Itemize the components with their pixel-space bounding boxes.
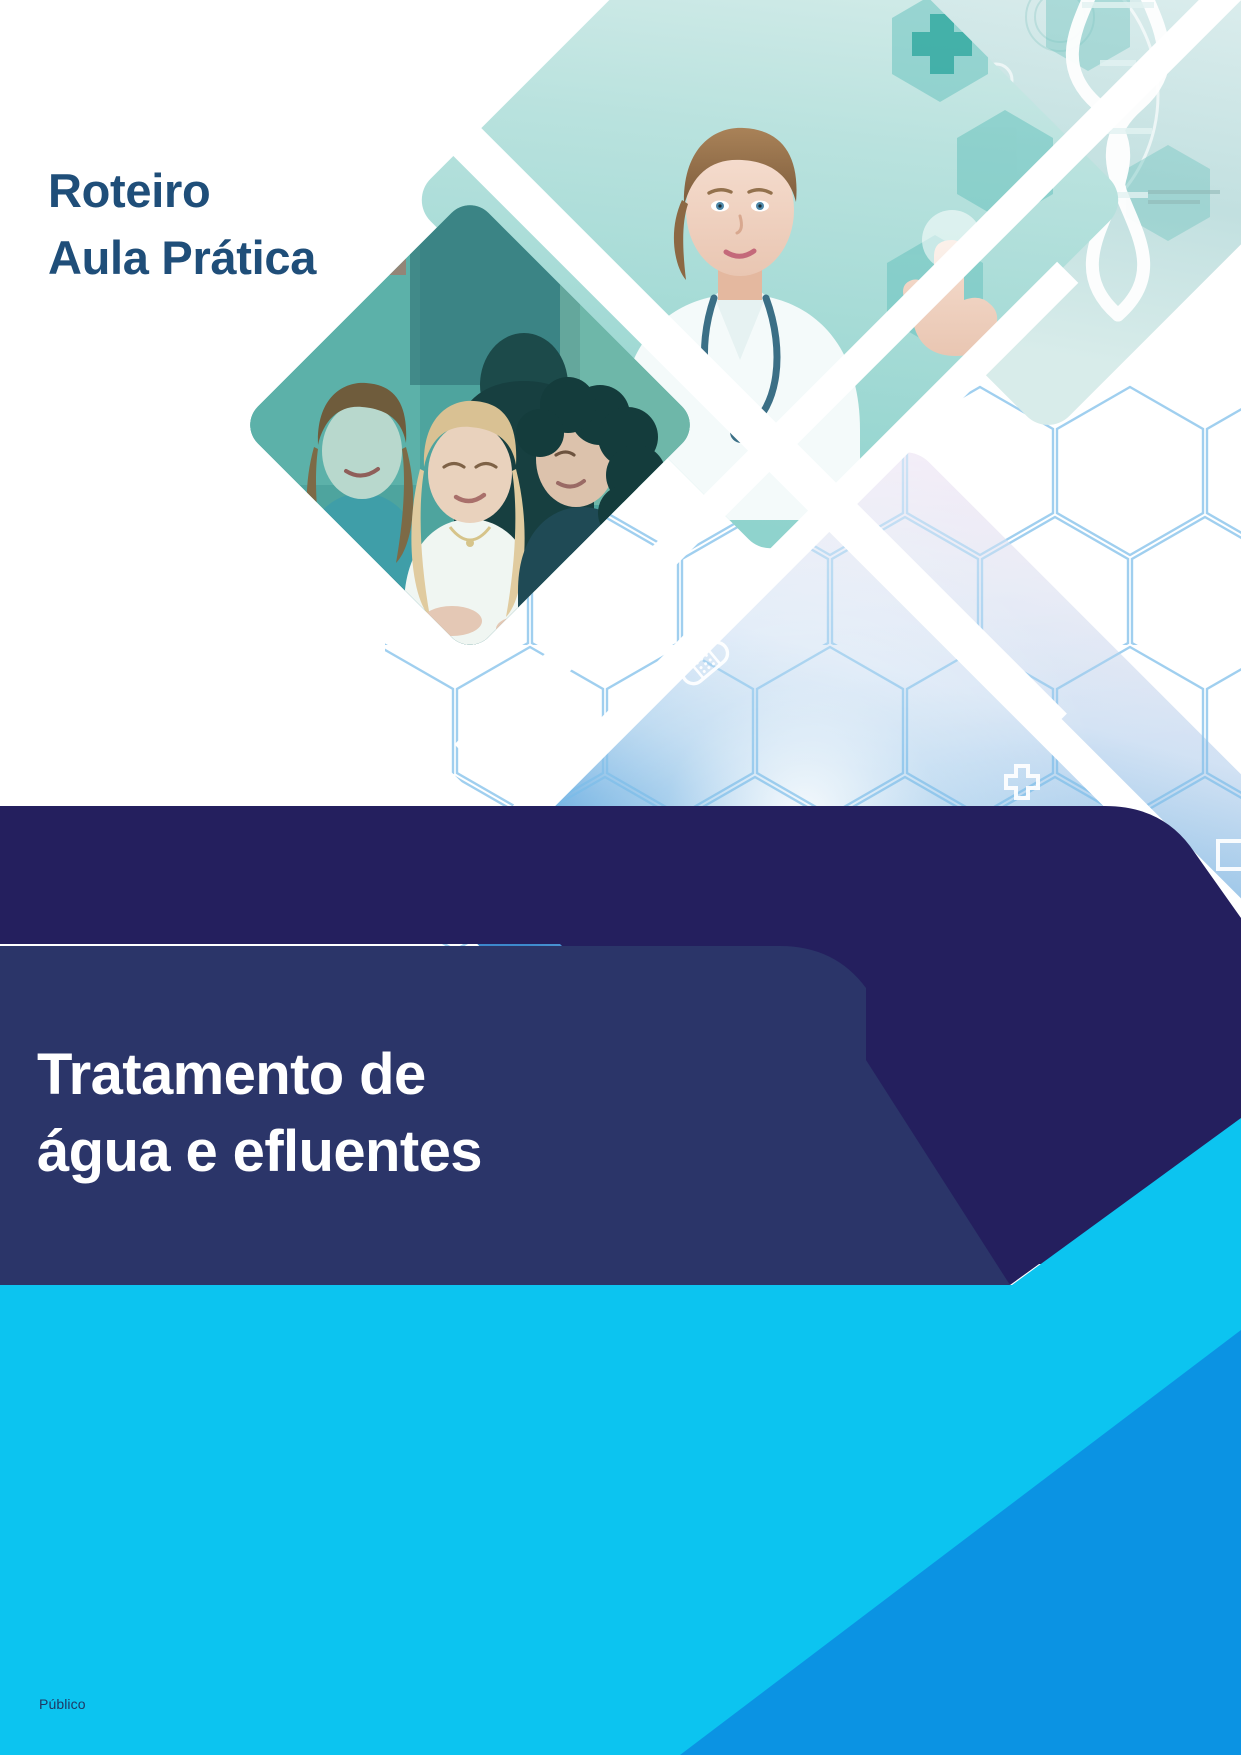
heading-line-1: Roteiro	[48, 158, 316, 225]
cover-title: Tratamento de água e efluentes	[37, 1036, 657, 1190]
pharmacy-bowl-icon	[822, 491, 858, 536]
students-photo-tile	[0, 0, 965, 935]
cover-page: Roteiro Aula Prática Tratamento de água …	[0, 0, 1241, 1755]
square-icon	[1218, 841, 1241, 869]
heading-line-2: Aula Prática	[48, 225, 316, 292]
title-line-2: água e efluentes	[37, 1113, 657, 1190]
doctor-photo-tile	[355, 0, 1241, 737]
indigo-band	[0, 806, 1241, 1264]
blue-diagonal-band	[680, 1330, 1241, 1755]
title-line-1: Tratamento de	[37, 1036, 657, 1113]
tile-gutters	[197, 0, 1241, 1208]
classification-label: Público	[39, 1696, 86, 1712]
cover-heading: Roteiro Aula Prática	[48, 158, 316, 291]
medical-cross-icon	[1006, 766, 1038, 798]
green-cross-icon	[912, 14, 972, 74]
dna-tech-tile	[633, 0, 1241, 504]
bandage-icon	[678, 638, 732, 688]
cyan-base	[0, 1285, 1241, 1755]
up-arrow-icon	[915, 840, 945, 880]
